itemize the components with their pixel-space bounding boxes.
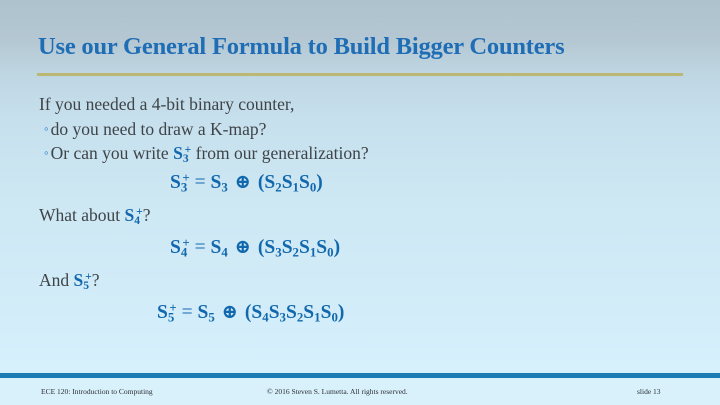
footer: ECE 120: Introduction to Computing © 201…	[0, 378, 720, 405]
group-close-paren: )	[316, 172, 323, 193]
symbol-base: S	[125, 205, 135, 225]
symbol-superscript: +	[185, 144, 192, 156]
lead-base: S	[170, 237, 181, 258]
question-text-after: ?	[143, 205, 151, 225]
group-term-base: S	[286, 302, 297, 323]
inline-symbol-s4plus: S4+	[120, 205, 143, 225]
group-term-base: S	[321, 302, 332, 323]
symbol-base: S	[173, 143, 183, 163]
footer-slide-number: slide 13	[637, 387, 661, 396]
term-base: S	[198, 302, 209, 323]
term-base: S	[211, 172, 222, 193]
equation-lead: S4+	[170, 237, 190, 258]
group-term-base: S	[251, 302, 262, 323]
group-close-paren: )	[334, 237, 341, 258]
equation-s4: S4+ = S4 ⊕ (S3S2S1S0)	[170, 238, 340, 258]
group-term: S1	[299, 237, 316, 258]
page-title: Use our General Formula to Build Bigger …	[38, 33, 698, 61]
lead-superscript: +	[182, 171, 189, 185]
group-term-base: S	[282, 237, 293, 258]
title-divider	[37, 73, 683, 76]
symbol-base: S	[74, 270, 84, 290]
group-term-base: S	[303, 302, 314, 323]
footer-copyright: © 2016 Steven S. Lumetta. All rights res…	[267, 387, 408, 396]
group-term: S4	[251, 302, 268, 323]
equation-group: (S2S1S0)	[258, 172, 323, 193]
equation-group: (S3S2S1S0)	[258, 237, 340, 258]
equals-sign: =	[195, 172, 206, 193]
list-item: ◦Or can you write S3+ from our generaliz…	[44, 145, 369, 163]
term-subscript: 5	[208, 311, 214, 325]
list-item-label: do you need to draw a K-map?	[51, 119, 267, 139]
group-term: S0	[299, 172, 316, 193]
group-term: S1	[303, 302, 320, 323]
title-area: Use our General Formula to Build Bigger …	[0, 0, 720, 80]
group-term: S3	[269, 302, 286, 323]
symbol-superscript: +	[136, 206, 143, 218]
equals-sign: =	[195, 237, 206, 258]
group-term-base: S	[299, 172, 310, 193]
group-term-base: S	[264, 172, 275, 193]
lead-superscript: +	[169, 301, 176, 315]
lead-base: S	[170, 172, 181, 193]
xor-operator-icon: ⊕	[233, 237, 253, 258]
inline-symbol-s3plus: S3+	[169, 143, 192, 163]
group-term: S2	[264, 172, 281, 193]
equation-term: S5	[198, 302, 215, 323]
question-line-s5: And S5+?	[39, 272, 99, 290]
term-base: S	[211, 237, 222, 258]
equation-s5: S5+ = S5 ⊕ (S4S3S2S1S0)	[157, 303, 344, 323]
equation-term: S3	[211, 172, 228, 193]
group-term: S2	[282, 237, 299, 258]
symbol-superscript: +	[85, 271, 92, 283]
group-term: S0	[321, 302, 338, 323]
equation-term: S4	[211, 237, 228, 258]
bullet-circle-icon: ◦	[44, 121, 49, 136]
footer-course-name: ECE 120: Introduction to Computing	[41, 387, 153, 396]
term-subscript: 3	[221, 181, 227, 195]
question-text-before: What about	[39, 205, 120, 225]
list-item: ◦do you need to draw a K-map?	[44, 121, 266, 139]
bullet-circle-icon: ◦	[44, 145, 49, 160]
group-term-base: S	[282, 172, 293, 193]
list-item-label-after: from our generalization?	[196, 143, 369, 163]
equation-s3: S3+ = S3 ⊕ (S2S1S0)	[170, 173, 323, 193]
question-text-after: ?	[92, 270, 100, 290]
xor-operator-icon: ⊕	[220, 302, 240, 323]
group-term: S1	[282, 172, 299, 193]
equation-lead: S5+	[157, 302, 177, 323]
question-line-s4: What about S4+?	[39, 207, 151, 225]
inline-symbol-s5plus: S5+	[69, 270, 92, 290]
equals-sign: =	[182, 302, 193, 323]
group-term: S2	[286, 302, 303, 323]
group-term: S3	[264, 237, 281, 258]
equation-lead: S3+	[170, 172, 190, 193]
group-term-base: S	[299, 237, 310, 258]
term-subscript: 4	[221, 246, 227, 260]
lead-base: S	[157, 302, 168, 323]
intro-line: If you needed a 4-bit binary counter,	[39, 96, 294, 114]
slide: Use our General Formula to Build Bigger …	[0, 0, 720, 405]
group-close-paren: )	[338, 302, 345, 323]
equation-group: (S4S3S2S1S0)	[245, 302, 344, 323]
question-text-before: And	[39, 270, 69, 290]
lead-superscript: +	[182, 236, 189, 250]
group-term-base: S	[316, 237, 327, 258]
xor-operator-icon: ⊕	[233, 172, 253, 193]
group-term: S0	[316, 237, 333, 258]
group-term-base: S	[269, 302, 280, 323]
group-term-base: S	[264, 237, 275, 258]
list-item-label-before: Or can you write	[51, 143, 169, 163]
